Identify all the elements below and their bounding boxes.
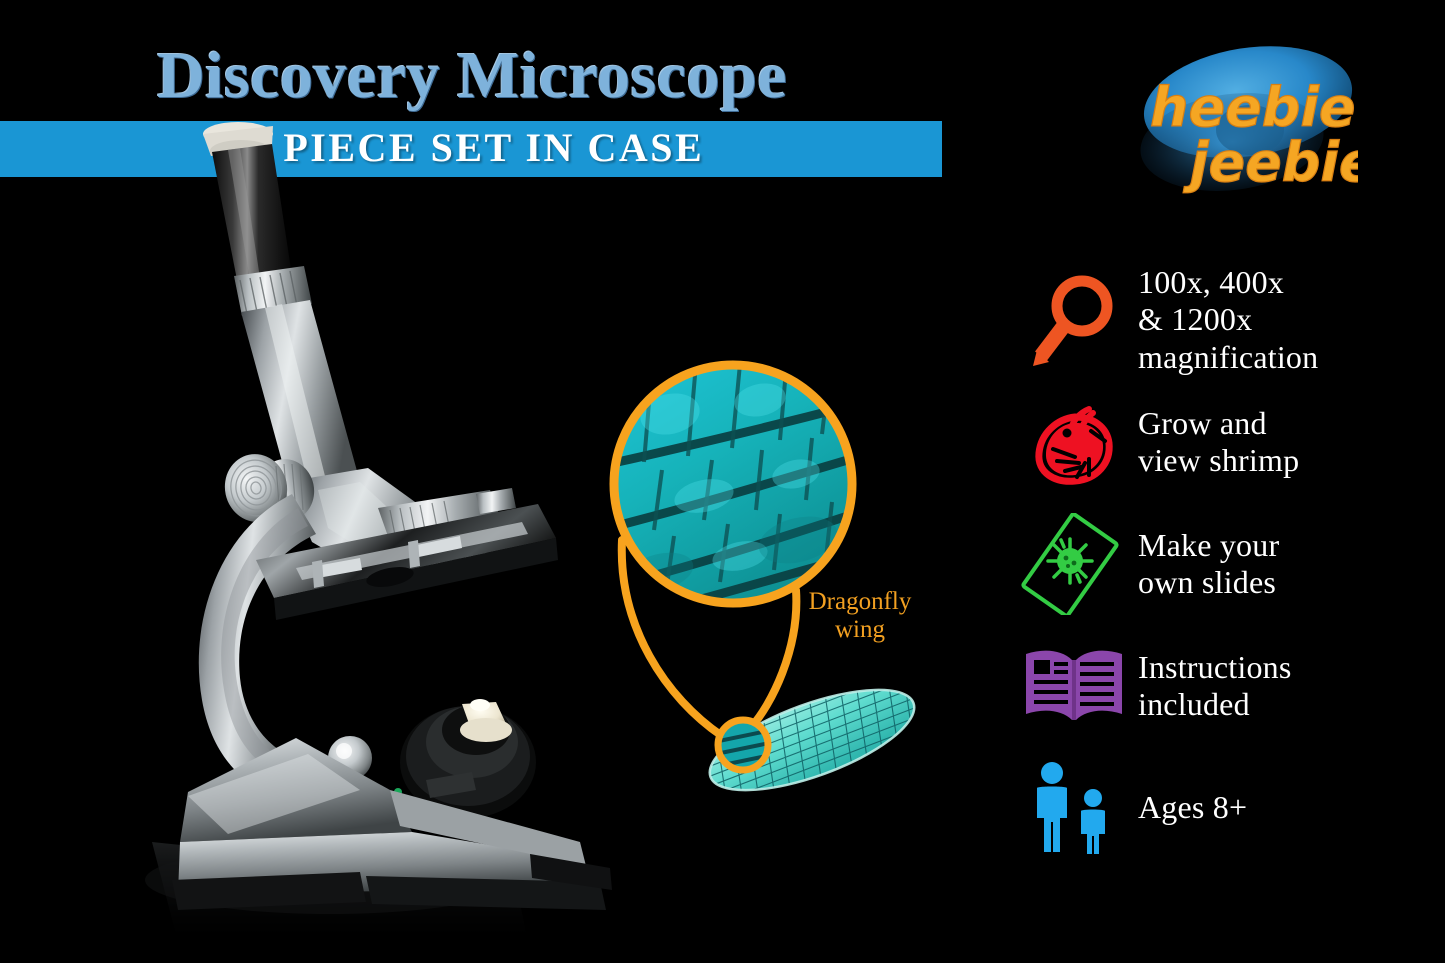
microbe-glyph	[1048, 539, 1092, 583]
shrimp-icon	[1010, 384, 1138, 500]
feature-shrimp: Grow and view shrimp	[1010, 384, 1440, 500]
feature-ages-text: Ages 8+	[1138, 789, 1247, 826]
feature-shrimp-text: Grow and view shrimp	[1138, 405, 1299, 480]
magnifier-icon	[1010, 262, 1138, 378]
logo-line2: jeebies	[1183, 131, 1358, 194]
feature-slides-text: Make your own slides	[1138, 527, 1279, 602]
callout-label-line1: Dragonfly	[780, 588, 940, 616]
callout-label-line2: wing	[780, 616, 940, 644]
feature-magnification-text: 100x, 400x & 1200x magnification	[1138, 264, 1318, 376]
book-icon	[1010, 628, 1138, 744]
feature-slides: Make your own slides	[1010, 506, 1440, 622]
callout-label: Dragonfly wing	[780, 588, 940, 644]
people-icon	[1010, 750, 1138, 866]
feature-instructions: Instructions included	[1010, 628, 1440, 744]
product-packaging-panel: Discovery Microscope 30 PIECE SET IN CAS…	[0, 0, 1445, 963]
logo-line1: heebie	[1150, 76, 1355, 139]
slide-icon	[1010, 506, 1138, 622]
feature-instructions-text: Instructions included	[1138, 649, 1292, 724]
adult-figure	[1037, 762, 1067, 852]
child-figure	[1081, 789, 1105, 854]
magnified-specimen-view	[605, 360, 876, 618]
feature-list: 100x, 400x & 1200x magnification	[1010, 262, 1440, 872]
microscope-product-image	[60, 90, 680, 950]
eyepiece	[203, 122, 292, 285]
heebie-jeebies-logo: heebie jeebies	[1128, 38, 1358, 203]
feature-magnification: 100x, 400x & 1200x magnification	[1010, 262, 1440, 378]
feature-ages: Ages 8+	[1010, 750, 1440, 866]
